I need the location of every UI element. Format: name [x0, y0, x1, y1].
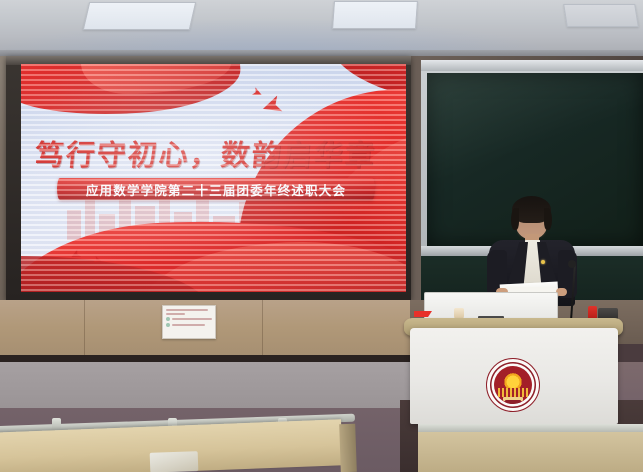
wood-panel-seam-2 — [262, 300, 263, 362]
ceiling-light-panel-2 — [332, 1, 418, 29]
led-display-screen: ➤ ➤ ➤ ➤ 笃行守初心，数韵启华章 应用数学学院第二十三届团委年终述职大会 — [21, 64, 406, 292]
crest-ribbon — [505, 400, 521, 404]
clear-plastic-item — [150, 451, 199, 472]
lapel-pin-icon — [541, 260, 545, 264]
rear-desk-top — [418, 432, 643, 472]
blackboard-top-rail — [421, 60, 643, 71]
sign-bullet-icon-2 — [166, 323, 170, 327]
screen-glare — [21, 64, 406, 292]
desk-rail-clip-1 — [52, 418, 61, 430]
wall-notice-sign — [162, 305, 216, 339]
ceiling-light-panel-3 — [563, 4, 639, 27]
speaker-hair-left — [511, 208, 519, 230]
stage-platform — [0, 362, 420, 408]
ceiling-light-panel-1 — [83, 2, 196, 30]
microphone-icon — [568, 260, 576, 268]
crest-colonnade — [498, 388, 528, 397]
classroom-photo-scene: ➤ ➤ ➤ ➤ 笃行守初心，数韵启华章 应用数学学院第二十三届团委年终述职大会 — [0, 0, 643, 472]
wood-panel-seam-1 — [84, 300, 85, 362]
front-desk-right-edge — [339, 424, 357, 472]
university-crest-icon — [486, 358, 540, 412]
sign-bullet-icon-1 — [166, 317, 170, 321]
crest-inner-disc — [494, 366, 532, 404]
speaker-hair-right — [544, 208, 552, 230]
